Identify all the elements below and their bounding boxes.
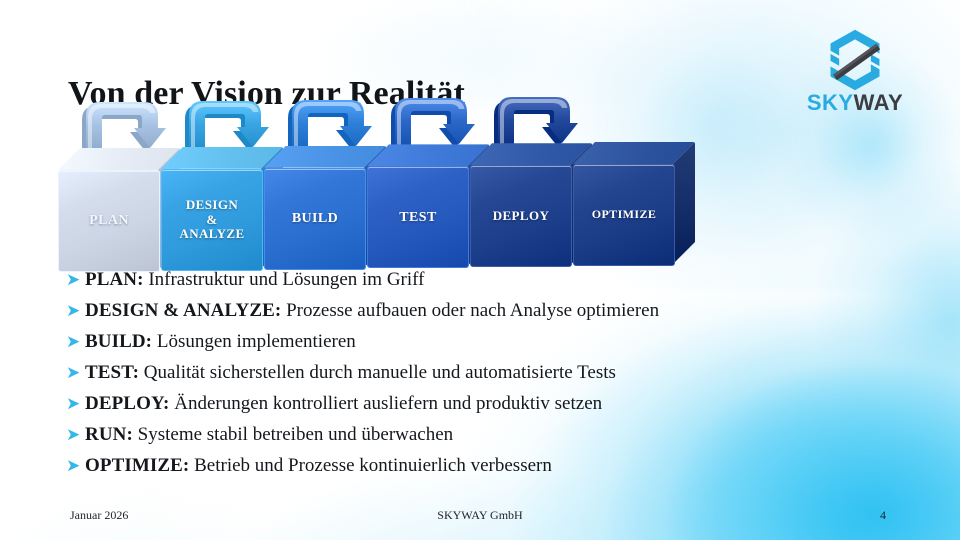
bullet-text: DEPLOY: Änderungen kontrolliert ausliefe… — [85, 388, 602, 419]
bullet-arrow-icon: ➤ — [66, 357, 85, 388]
bullet-term: DEPLOY: — [85, 393, 169, 414]
bullet-item-1: ➤PLAN: Infrastruktur und Lösungen im Gri… — [66, 264, 826, 295]
bullet-term: DESIGN & ANALYZE: — [85, 300, 281, 321]
bullet-term: TEST: — [85, 362, 139, 383]
cube-label: TEST — [368, 167, 468, 267]
bullet-item-4: ➤TEST: Qualität sicherstellen durch manu… — [66, 357, 826, 388]
bullet-term: RUN: — [85, 424, 133, 445]
cube-front-face: TEST — [367, 166, 469, 268]
cube-front-face: DESIGN&ANALYZE — [161, 169, 263, 271]
bullet-item-7: ➤OPTIMIZE: Betrieb und Prozesse kontinui… — [66, 450, 826, 481]
bullet-text: RUN: Systeme stabil betreiben und überwa… — [85, 419, 453, 450]
bullet-item-6: ➤RUN: Systeme stabil betreiben und überw… — [66, 419, 826, 450]
cube-front-face: PLAN — [58, 170, 160, 272]
bullet-term: BUILD: — [85, 331, 152, 352]
bullet-item-3: ➤BUILD: Lösungen implementieren — [66, 326, 826, 357]
skyway-logo: SKYWAY — [790, 24, 920, 124]
bullet-text: BUILD: Lösungen implementieren — [85, 326, 356, 357]
footer-company: SKYWAY GmbH — [0, 508, 960, 523]
skyway-wordmark: SKYWAY — [790, 92, 920, 114]
cube-label: DEPLOY — [471, 166, 571, 266]
bullet-arrow-icon: ➤ — [66, 450, 85, 481]
skyway-hexagon-icon — [819, 24, 891, 96]
cube-front-face: OPTIMIZE — [573, 164, 675, 266]
bullet-arrow-icon: ➤ — [66, 295, 85, 326]
bullet-arrow-icon: ➤ — [66, 326, 85, 357]
slide-footer: Januar 2026 SKYWAY GmbH 4 — [0, 508, 960, 526]
logo-text-sky: SKY — [807, 90, 854, 115]
bullet-text: DESIGN & ANALYZE: Prozesse aufbauen oder… — [85, 295, 659, 326]
process-cube-optimize[interactable]: OPTIMIZE — [573, 142, 695, 264]
bullet-term: PLAN: — [85, 269, 144, 290]
cube-label: DESIGN&ANALYZE — [162, 170, 262, 270]
bullet-arrow-icon: ➤ — [66, 419, 85, 450]
cube-front-face: BUILD — [264, 168, 366, 270]
bullet-list: ➤PLAN: Infrastruktur und Lösungen im Gri… — [66, 264, 826, 481]
bullet-text: OPTIMIZE: Betrieb und Prozesse kontinuie… — [85, 450, 552, 481]
bullet-item-2: ➤DESIGN & ANALYZE: Prozesse aufbauen ode… — [66, 295, 826, 326]
cube-stage: PLANDESIGN&ANALYZEBUILDTESTDEPLOYOPTIMIZ… — [60, 96, 680, 266]
bullet-arrow-icon: ➤ — [66, 264, 85, 295]
bullet-text: PLAN: Infrastruktur und Lösungen im Grif… — [85, 264, 424, 295]
process-cube-diagram: PLANDESIGN&ANALYZEBUILDTESTDEPLOYOPTIMIZ… — [60, 96, 680, 266]
cube-label: OPTIMIZE — [574, 165, 674, 265]
footer-page-number: 4 — [880, 508, 886, 523]
bullet-term: OPTIMIZE: — [85, 455, 189, 476]
cube-label: BUILD — [265, 169, 365, 269]
bullet-item-5: ➤DEPLOY: Änderungen kontrolliert auslief… — [66, 388, 826, 419]
logo-text-way: WAY — [854, 90, 904, 115]
bullet-arrow-icon: ➤ — [66, 388, 85, 419]
cube-label: PLAN — [59, 171, 159, 271]
slide-canvas: Von der Vision zur Realität SKYWAY — [0, 0, 960, 540]
bullet-text: TEST: Qualität sicherstellen durch manue… — [85, 357, 616, 388]
cube-front-face: DEPLOY — [470, 165, 572, 267]
